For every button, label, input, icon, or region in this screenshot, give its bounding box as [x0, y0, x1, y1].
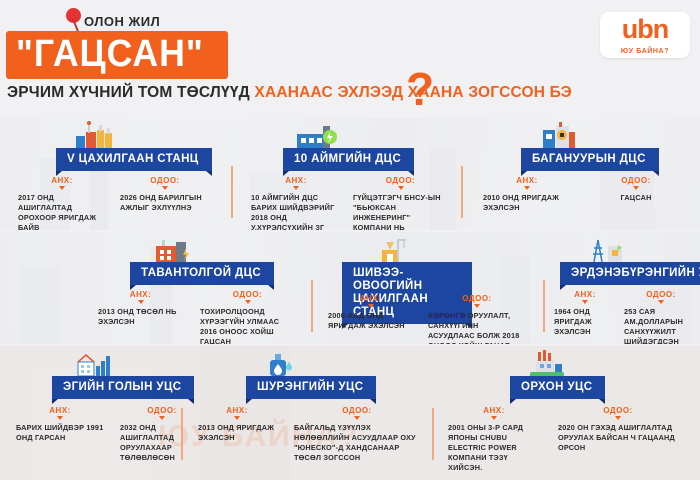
card-before-column: АНХ: 2000-ААД ОНД ЯРИГДАЖ ЭХЭЛСЭН [328, 294, 413, 331]
arrow-down-icon [615, 416, 621, 420]
card-title: ЭРДЭНЭБҮРЭНГИЙН УЦС [560, 262, 700, 285]
logo-wordmark: ubn [600, 15, 690, 43]
arrow-down-icon [398, 186, 404, 190]
before-text: 1964 ОНД ЯРИГДАЖ ЭХЭЛСЭН [554, 307, 616, 337]
before-label: АНХ: [16, 406, 104, 415]
arrow-down-icon [354, 416, 360, 420]
arrow-down-icon [582, 300, 588, 304]
now-label: ОДОО: [428, 294, 526, 303]
question-mark-icon: ? [406, 66, 434, 112]
arrow-down-icon [524, 186, 530, 190]
now-text: 2032 ОНД АШИГЛАЛТАД ОРУУЛАХААР ТӨЛӨВЛӨСӨ… [120, 423, 204, 463]
header-subtitle: ЭРЧИМ ХҮЧНИЙ ТОМ ТӨСЛҮҮД ХААНААС ЭХЛЭЭД … [7, 84, 572, 102]
card-v-tsakhilgaan-stants[interactable]: V ЦАХИЛГААН СТАНЦ АНХ: 2017 ОНД АШИГЛАЛТ… [8, 118, 223, 230]
before-label: АНХ: [251, 176, 341, 185]
card-before-column: АНХ: 10 АЙМГИЙН ДЦС БАРИХ ШИЙДВЭРИЙГ 201… [251, 176, 341, 230]
header-kicker: ОЛОН ЖИЛ [84, 14, 160, 29]
card-title: ШУРЭНГИЙН УЦС [246, 376, 376, 399]
arrow-down-icon [159, 416, 165, 420]
before-text: 10 АЙМГИЙН ДЦС БАРИХ ШИЙДВЭРИЙГ 2018 ОНД… [251, 193, 341, 230]
card-before-column: АНХ: 2017 ОНД АШИГЛАЛТАД ОРОХООР ЯРИГДАЖ… [18, 176, 106, 230]
card-baganuuryn-dts[interactable]: БАГАНУУРЫН ДЦС АНХ: 2010 ОНД ЯРИГДАЖ ЭХЭ… [473, 118, 688, 230]
card-egiin-golyn-uts[interactable]: ЭГИЙН ГОЛЫН УЦС АНХ: БАРИХ ШИЙДВЭР 1991 … [8, 346, 223, 480]
card-10-aimgiin-dts[interactable]: 10 АЙМГИЙН ДЦС АНХ: 10 АЙМГИЙН ДЦС БАРИХ… [243, 118, 453, 230]
card-now-column: ОДОО: ГҮЙЦЭТГЭГЧ БНСУ-ЫН "БЬЮКСАН ИНЖЕНЕ… [353, 176, 448, 230]
before-text: БАРИХ ШИЙДВЭР 1991 ОНД ГАРСАН [16, 423, 104, 443]
before-label: АНХ: [198, 406, 276, 415]
card-now-column: ОДОО: ТОХИРОЛЦООНД ХҮРЭЭГҮЙН УЛМААС 2016… [200, 290, 295, 344]
arrow-down-icon [162, 186, 168, 190]
now-text: 2020 ОН ГЭХЭД АШИГЛАЛТАД ОРУУЛАХ БАЙСАН … [558, 423, 678, 453]
card-now-column: ОДОО: 2032 ОНД АШИГЛАЛТАД ОРУУЛАХААР ТӨЛ… [120, 406, 204, 463]
before-text: 2013 ОНД ТӨСӨЛ НЬ ЭХЭЛСЭН [98, 307, 183, 327]
ubn-logo[interactable]: ubn ЮУ БАЙНА? [600, 12, 690, 58]
card-divider [543, 280, 545, 332]
row-1: V ЦАХИЛГААН СТАНЦ АНХ: 2017 ОНД АШИГЛАЛТ… [0, 118, 700, 230]
arrow-down-icon [57, 416, 63, 420]
now-label: ОДОО: [624, 290, 698, 299]
header-title-badge: "ГАЦСАН" [6, 31, 228, 79]
before-label: АНХ: [448, 406, 540, 415]
now-text: 253 САЯ АМ.ДОЛЛАРЫН САНХҮҮЖИЛТ ШИЙДЭГДСЭ… [624, 307, 698, 344]
card-divider [432, 408, 434, 460]
arrow-down-icon [368, 304, 374, 308]
card-title: 10 АЙМГИЙН ДЦС [283, 148, 414, 171]
header: ОЛОН ЖИЛ "ГАЦСАН" ЭРЧИМ ХҮЧНИЙ ТОМ ТӨСЛҮ… [0, 0, 700, 118]
card-title: V ЦАХИЛГААН СТАНЦ [56, 148, 212, 171]
card-tavantolgoi-dts[interactable]: ТАВАНТОЛГОЙ ДЦС АНХ: 2013 ОНД ТӨСӨЛ НЬ Э… [88, 232, 303, 344]
now-label: ОДОО: [558, 406, 678, 415]
arrow-down-icon [474, 304, 480, 308]
now-text: ГАЦСАН [591, 193, 681, 203]
card-now-column: ОДОО: ХӨРӨНГӨ ОРУУЛАЛТ, САНХҮҮГИЙН АСУУД… [428, 294, 526, 344]
card-before-column: АНХ: 2013 ОНД ТӨСӨЛ НЬ ЭХЭЛСЭН [98, 290, 183, 327]
before-text: 2013 ОНД ЯРИГДАЖ ЭХЭЛСЭН [198, 423, 276, 443]
row-2: ТАВАНТОЛГОЙ ДЦС АНХ: 2013 ОНД ТӨСӨЛ НЬ Э… [0, 232, 700, 344]
card-title: ЭГИЙН ГОЛЫН УЦС [52, 376, 194, 399]
arrow-down-icon [633, 186, 639, 190]
before-text: 2010 ОНД ЯРИГДАЖ ЭХЭЛСЭН [483, 193, 571, 213]
arrow-down-icon [293, 186, 299, 190]
card-divider [461, 166, 463, 218]
arrow-down-icon [138, 300, 144, 304]
card-now-column: ОДОО: 2026 ОНД БАРИЛГЫН АЖЛЫГ ЭХЛҮҮЛНЭ [120, 176, 210, 213]
before-label: АНХ: [328, 294, 413, 303]
now-label: ОДОО: [200, 290, 295, 299]
card-now-column: ОДОО: ГАЦСАН [591, 176, 681, 203]
now-label: ОДОО: [120, 406, 204, 415]
card-title: ТАВАНТОЛГОЙ ДЦС [130, 262, 274, 285]
now-label: ОДОО: [120, 176, 210, 185]
before-label: АНХ: [18, 176, 106, 185]
card-title: ОРХОН УЦС [510, 376, 605, 399]
arrow-down-icon [491, 416, 497, 420]
arrow-down-icon [245, 300, 251, 304]
card-divider [311, 280, 313, 332]
subtitle-dark-part: ЭРЧИМ ХҮЧНИЙ ТОМ ТӨСЛҮҮД [7, 84, 250, 101]
card-before-column: АНХ: 2001 ОНЫ 3-Р САРД ЯПОНЫ CHUBU ELECT… [448, 406, 540, 473]
card-shurengiin-uts[interactable]: ШУРЭНГИЙН УЦС АНХ: 2013 ОНД ЯРИГДАЖ ЭХЭЛ… [196, 346, 426, 480]
card-now-column: ОДОО: БАЙГАЛЬД ҮЗҮҮЛЭХ НӨЛӨӨЛЛИЙН АСУУДЛ… [294, 406, 420, 463]
card-title: БАГАНУУРЫН ДЦС [521, 148, 659, 171]
card-erdenebürengiin-uts[interactable]: ЭРДЭНЭБҮРЭНГИЙН УЦС АНХ: 1964 ОНД ЯРИГДА… [552, 232, 700, 344]
before-label: АНХ: [554, 290, 616, 299]
card-divider [231, 166, 233, 218]
now-text: 2026 ОНД БАРИЛГЫН АЖЛЫГ ЭХЛҮҮЛНЭ [120, 193, 210, 213]
now-label: ОДОО: [353, 176, 448, 185]
before-label: АНХ: [98, 290, 183, 299]
card-shivee-ovoo-tsahilgaan-stants[interactable]: ШИВЭЭ-ОВООГИЙН ЦАХИЛГААН СТАНЦ АНХ: 2000… [320, 232, 535, 344]
infographic-page: ОЛОН ЖИЛ "ГАЦСАН" ЭРЧИМ ХҮЧНИЙ ТОМ ТӨСЛҮ… [0, 0, 700, 480]
arrow-down-icon [658, 300, 664, 304]
card-now-column: ОДОО: 253 САЯ АМ.ДОЛЛАРЫН САНХҮҮЖИЛТ ШИЙ… [624, 290, 698, 344]
now-text: ГҮЙЦЭТГЭГЧ БНСУ-ЫН "БЬЮКСАН ИНЖЕНЕРИНГ" … [353, 193, 448, 230]
row-3: ЮУ БАЙНА? ЭГИЙН ГОЛЫН УЦС АНХ: [0, 346, 700, 480]
now-label: ОДОО: [591, 176, 681, 185]
card-before-column: АНХ: 2013 ОНД ЯРИГДАЖ ЭХЭЛСЭН [198, 406, 276, 443]
card-now-column: ОДОО: 2020 ОН ГЭХЭД АШИГЛАЛТАД ОРУУЛАХ Б… [558, 406, 678, 453]
card-before-column: АНХ: 2010 ОНД ЯРИГДАЖ ЭХЭЛСЭН [483, 176, 571, 213]
card-before-column: АНХ: 1964 ОНД ЯРИГДАЖ ЭХЭЛСЭН [554, 290, 616, 337]
before-text: 2017 ОНД АШИГЛАЛТАД ОРОХООР ЯРИГДАЖ БАЙВ [18, 193, 106, 230]
now-label: ОДОО: [294, 406, 420, 415]
card-divider [181, 408, 183, 460]
before-text: 2001 ОНЫ 3-Р САРД ЯПОНЫ CHUBU ELECTRIC P… [448, 423, 540, 473]
before-label: АНХ: [483, 176, 571, 185]
before-text: 2000-ААД ОНД ЯРИГДАЖ ЭХЭЛСЭН [328, 311, 413, 331]
logo-tagline: ЮУ БАЙНА? [600, 48, 690, 55]
now-text: ТОХИРОЛЦООНД ХҮРЭЭГҮЙН УЛМААС 2016 ОНООС… [200, 307, 295, 344]
page-title: "ГАЦСАН" [16, 34, 204, 74]
arrow-down-icon [59, 186, 65, 190]
now-text: БАЙГАЛЬД ҮЗҮҮЛЭХ НӨЛӨӨЛЛИЙН АСУУДЛААР ОХ… [294, 423, 420, 463]
arrow-down-icon [234, 416, 240, 420]
now-text: ХӨРӨНГӨ ОРУУЛАЛТ, САНХҮҮГИЙН АСУУДЛААС Б… [428, 311, 526, 344]
card-before-column: АНХ: БАРИХ ШИЙДВЭР 1991 ОНД ГАРСАН [16, 406, 104, 443]
card-orkhon-uts[interactable]: ОРХОН УЦС АНХ: 2001 ОНЫ 3-Р САРД ЯПОНЫ C… [442, 346, 692, 480]
